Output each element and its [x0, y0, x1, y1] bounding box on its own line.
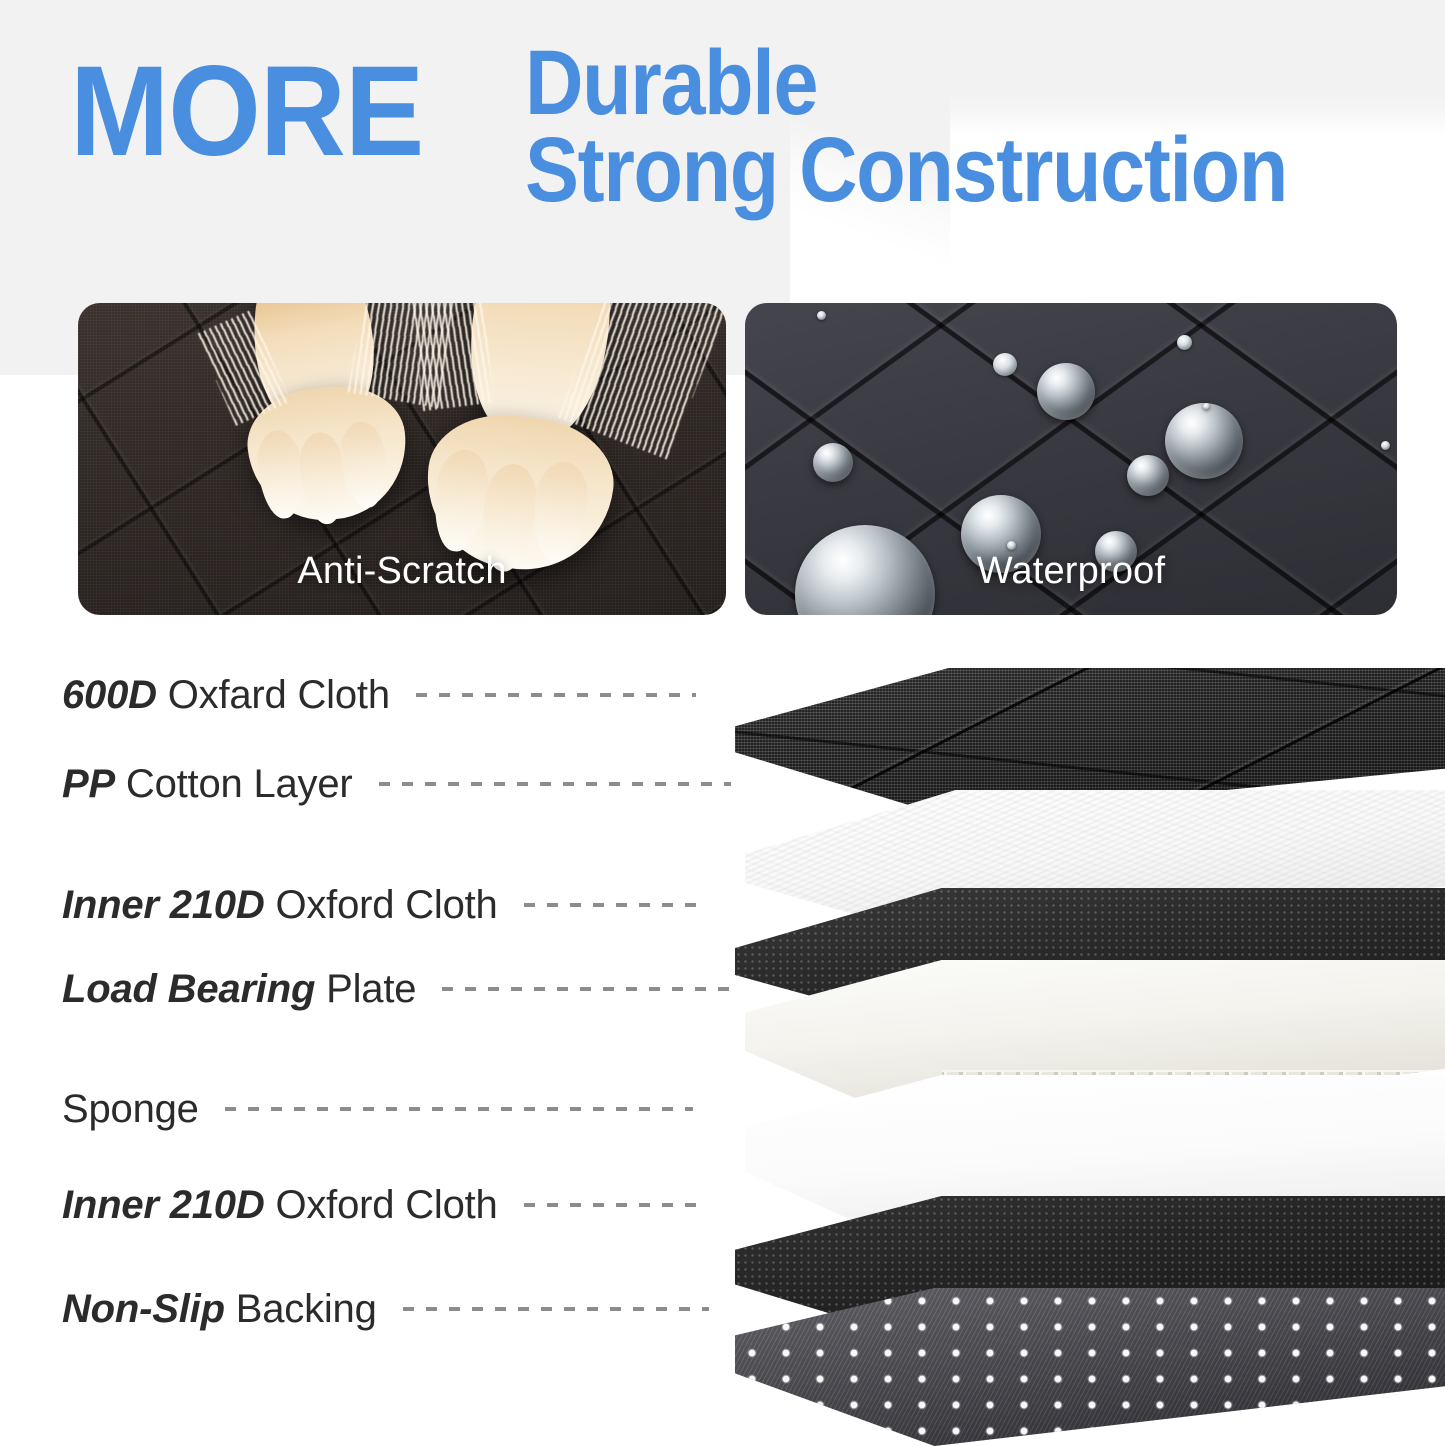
layer-label-text: Inner 210D Oxford Cloth — [62, 883, 498, 928]
layer-label-suffix: Oxford Cloth — [265, 1183, 498, 1227]
layer-label-text: Non-Slip Backing — [62, 1287, 377, 1332]
leader-line — [524, 1203, 696, 1207]
leader-line — [442, 987, 730, 991]
layer-label-suffix: Oxford Cloth — [265, 883, 498, 927]
layer-label-prefix: Non-Slip — [62, 1287, 225, 1331]
layer-label-text: Inner 210D Oxford Cloth — [62, 1183, 498, 1228]
layer-label-text: 600D Oxfard Cloth — [62, 673, 390, 718]
layer-label-suffix: Oxfard Cloth — [157, 673, 390, 717]
leader-line — [403, 1307, 709, 1311]
layer-label-prefix: Inner 210D — [62, 1183, 265, 1227]
layer-label-text: Load Bearing Plate — [62, 967, 416, 1012]
layer-label-inner-210d-oxford-cloth-top: Inner 210D Oxford Cloth — [62, 878, 696, 932]
layer-label-prefix: Load Bearing — [62, 967, 315, 1011]
layer-label-suffix: Sponge — [62, 1087, 199, 1131]
layer-label-prefix: PP — [62, 762, 115, 806]
layer-label-text: PP Cotton Layer — [62, 762, 353, 807]
layer-label-prefix: Inner 210D — [62, 883, 265, 927]
leader-line — [416, 693, 696, 697]
layer-label-group: 600D Oxfard Cloth PP Cotton Layer Inner … — [0, 0, 1445, 1445]
layer-label-text: Sponge — [62, 1087, 199, 1132]
layer-label-inner-210d-oxford-cloth-bottom: Inner 210D Oxford Cloth — [62, 1178, 696, 1232]
layer-label-load-bearing-plate: Load Bearing Plate — [62, 962, 730, 1016]
leader-line — [524, 903, 696, 907]
leader-line — [379, 782, 731, 786]
layer-label-prefix: 600D — [62, 673, 157, 717]
layer-label-non-slip-backing: Non-Slip Backing — [62, 1282, 709, 1336]
layer-label-sponge: Sponge — [62, 1082, 693, 1136]
layer-label-600d-oxford-cloth: 600D Oxfard Cloth — [62, 668, 696, 722]
layer-label-suffix: Cotton Layer — [115, 762, 353, 806]
leader-line — [225, 1107, 693, 1111]
layer-label-pp-cotton-layer: PP Cotton Layer — [62, 757, 731, 811]
layer-label-suffix: Plate — [315, 967, 416, 1011]
layer-label-suffix: Backing — [225, 1287, 377, 1331]
